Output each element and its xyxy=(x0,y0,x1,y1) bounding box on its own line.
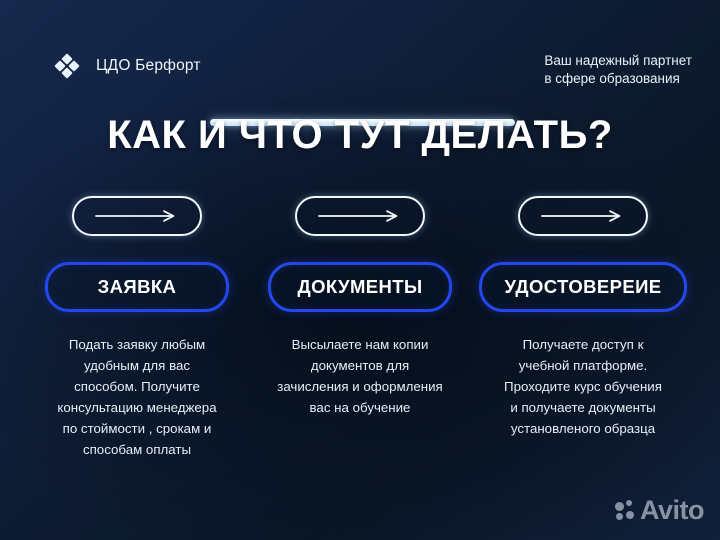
brand-name: ЦДО Берфорт xyxy=(96,57,201,75)
header-tagline: Ваш надежный партнет в сфере образования xyxy=(544,52,692,88)
slide-header: ЦДО Берфорт Ваш надежный партнет в сфере… xyxy=(0,52,720,94)
tagline-line-2: в сфере образования xyxy=(544,70,692,88)
four-diamond-logo-icon xyxy=(56,55,78,77)
avito-watermark-text: Avito xyxy=(640,495,704,526)
step-column-2: ДОКУМЕНТЫ Высылаете нам копии документов… xyxy=(251,196,469,418)
step-description-1: Подать заявку любым удобным для вас спос… xyxy=(33,334,241,460)
step-description-3: Получаете доступ к учебной платформе. Пр… xyxy=(476,334,690,439)
page-title: КАК И ЧТО ТУТ ДЕЛАТЬ? xyxy=(0,113,720,158)
avito-dots-icon xyxy=(615,500,637,522)
steps-row: ЗАЯВКА Подать заявку любым удобным для в… xyxy=(28,196,692,460)
slide-canvas: ЦДО Берфорт Ваш надежный партнет в сфере… xyxy=(0,0,720,540)
step-column-1: ЗАЯВКА Подать заявку любым удобным для в… xyxy=(28,196,246,460)
arrow-right-icon xyxy=(518,196,648,236)
tagline-line-1: Ваш надежный партнет xyxy=(544,52,692,70)
step-label-zayavka[interactable]: ЗАЯВКА xyxy=(45,262,229,312)
brand-lockup: ЦДО Берфорт xyxy=(56,52,201,80)
step-description-2: Высылаете нам копии документов для зачис… xyxy=(256,334,464,418)
arrow-right-icon xyxy=(295,196,425,236)
avito-watermark: Avito xyxy=(615,495,704,526)
step-column-3: УДОСТОВЕРЕИЕ Получаете доступ к учебной … xyxy=(474,196,692,439)
arrow-right-icon xyxy=(72,196,202,236)
step-label-udostovereie[interactable]: УДОСТОВЕРЕИЕ xyxy=(479,262,686,312)
step-label-dokumenty[interactable]: ДОКУМЕНТЫ xyxy=(268,262,452,312)
